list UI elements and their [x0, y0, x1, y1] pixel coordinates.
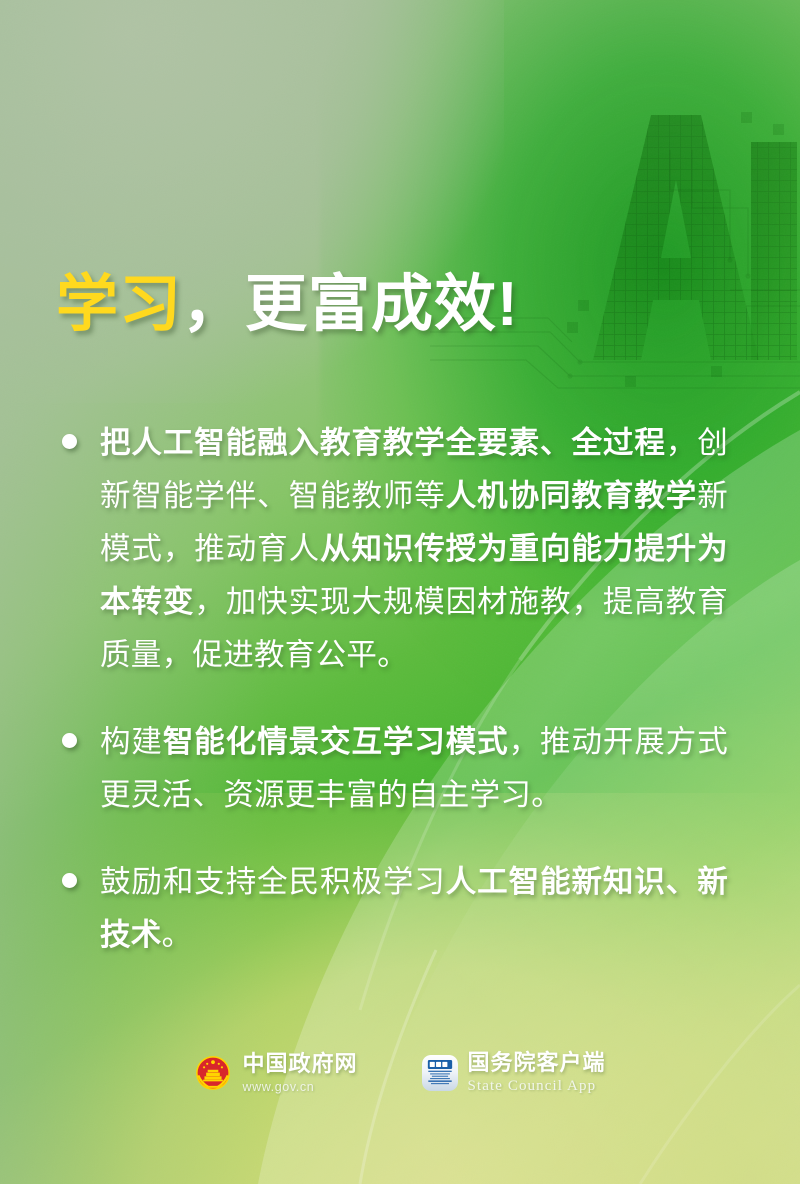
list-item: 把人工智能融入教育教学全要素、全过程，创新智能学伴、智能教师等人机协同教育教学新… [56, 417, 728, 682]
list-item: 鼓励和支持全民积极学习人工智能新知识、新技术。 [56, 856, 728, 962]
footer-brands: 中国政府网 www.gov.cn [0, 1052, 800, 1094]
brand-gov-texts: 中国政府网 www.gov.cn [242, 1053, 357, 1094]
poster-root: 学习，更富成效! 把人工智能融入教育教学全要素、全过程，创新智能学伴、智能教师等… [0, 0, 800, 1184]
text-run: 鼓励和支持全民积极学习 [100, 865, 446, 899]
text-run: 。 [162, 918, 193, 952]
bullet-dot-icon [62, 733, 77, 748]
bullet-dot-icon [62, 434, 77, 449]
brand-app-name: 国务院客户端 [468, 1052, 606, 1074]
emphasis-run: 人机协同教育教学 [446, 479, 697, 513]
bullet-text: 构建智能化情景交互学习模式，推动开展方式更灵活、资源更丰富的自主学习。 [100, 716, 728, 822]
emphasis-run: 把人工智能融入教育教学全要素、全过程 [100, 426, 666, 460]
page-title: 学习，更富成效! [56, 274, 519, 336]
text-run: ，加快实现大规模因材施教，提高教育质量，促进教育公平。 [100, 585, 728, 672]
brand-app-name-en: State Council App [468, 1079, 606, 1094]
brand-gov-cn[interactable]: 中国政府网 www.gov.cn [194, 1053, 357, 1094]
emphasis-run: 智能化情景交互学习模式 [163, 725, 509, 759]
poster-content: 学习，更富成效! 把人工智能融入教育教学全要素、全过程，创新智能学伴、智能教师等… [0, 0, 800, 1184]
bullet-text: 把人工智能融入教育教学全要素、全过程，创新智能学伴、智能教师等人机协同教育教学新… [100, 417, 728, 682]
page-title-rest: ，更富成效! [182, 270, 519, 339]
bullet-text: 鼓励和支持全民积极学习人工智能新知识、新技术。 [100, 856, 728, 962]
national-emblem-icon [194, 1054, 232, 1092]
page-title-highlight: 学习 [56, 270, 182, 339]
brand-app-texts: 国务院客户端 State Council App [468, 1052, 606, 1094]
brand-gov-url: www.gov.cn [242, 1081, 357, 1094]
bullet-list: 把人工智能融入教育教学全要素、全过程，创新智能学伴、智能教师等人机协同教育教学新… [56, 386, 728, 992]
brand-state-council-app[interactable]: 国务院客户端 State Council App [422, 1052, 606, 1094]
bullet-dot-icon [62, 873, 77, 888]
list-item: 构建智能化情景交互学习模式，推动开展方式更灵活、资源更丰富的自主学习。 [56, 716, 728, 822]
state-council-app-icon [422, 1055, 458, 1091]
brand-gov-name: 中国政府网 [242, 1053, 357, 1075]
text-run: 构建 [100, 725, 163, 759]
